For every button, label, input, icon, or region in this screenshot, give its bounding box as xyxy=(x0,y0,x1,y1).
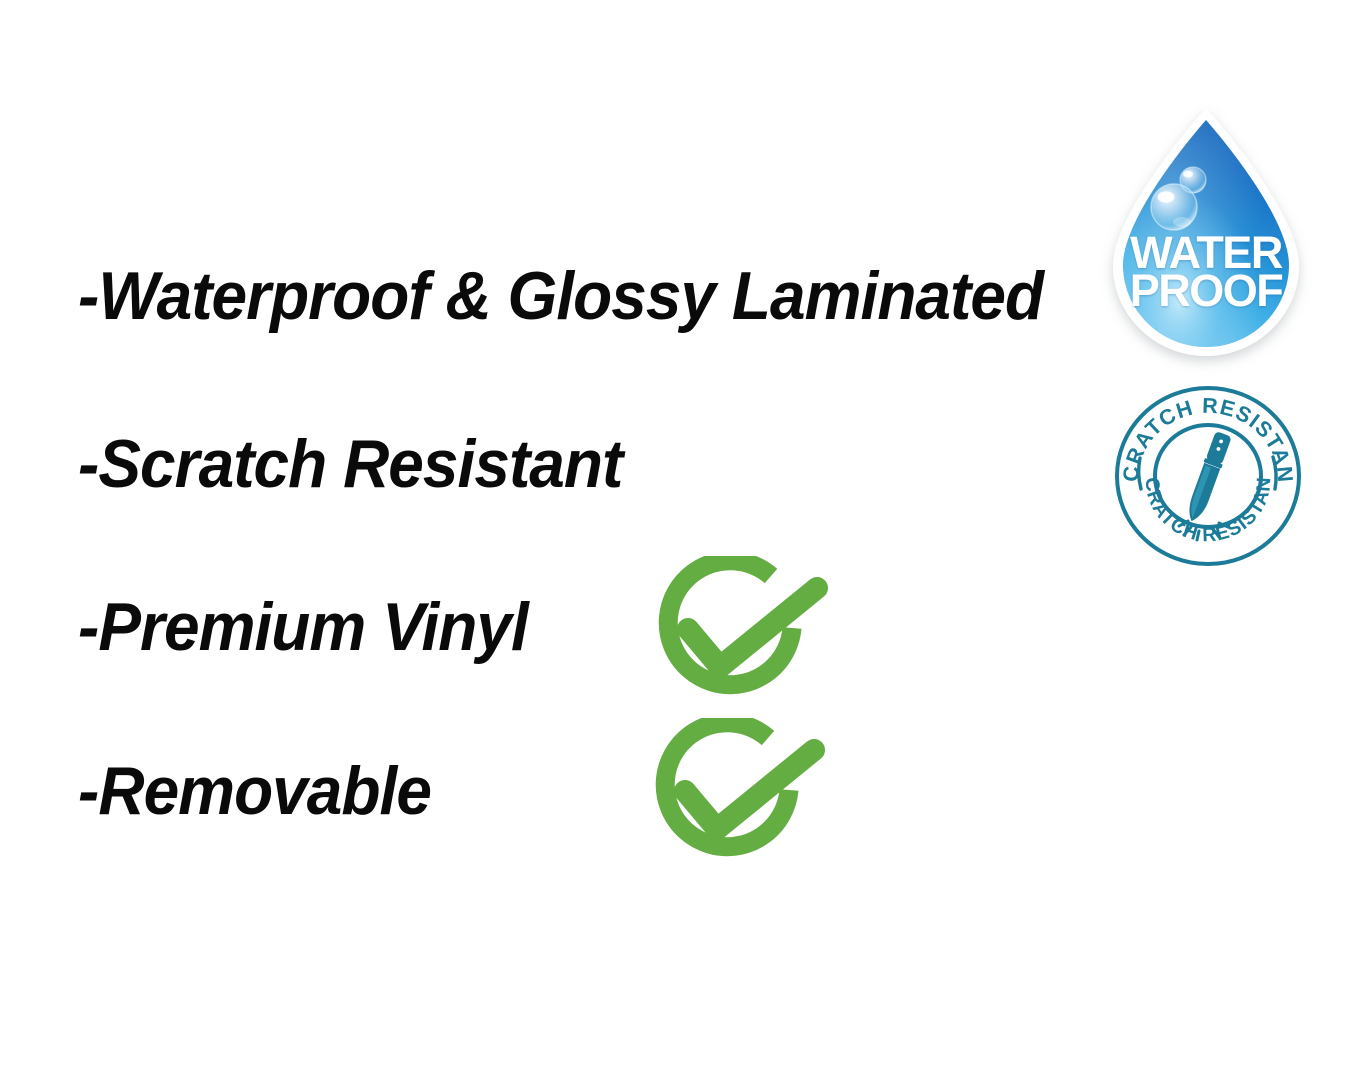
knife-icon xyxy=(1183,431,1233,525)
bubble-large-highlight xyxy=(1158,191,1175,202)
check-circle-icon xyxy=(638,718,834,878)
feature-item-scratch-resistant: -Scratch Resistant xyxy=(78,430,622,498)
bubble-small-highlight xyxy=(1183,171,1193,178)
feature-item-premium-vinyl: -Premium Vinyl xyxy=(78,593,528,661)
feature-item-removable: -Removable xyxy=(78,757,431,825)
knife-blade xyxy=(1184,463,1220,524)
bubble-large-underlight xyxy=(1173,217,1191,227)
waterproof-badge: WATER PROOF xyxy=(1106,106,1306,364)
droplet-sheen xyxy=(1123,120,1289,347)
check-tick xyxy=(685,750,814,829)
scratch-resistant-badge: SCRATCH RESISTANT SCRATCH RESISTANT xyxy=(1113,381,1303,567)
feature-item-waterproof-glossy-laminated: -Waterproof & Glossy Laminated xyxy=(78,262,1043,330)
check-circle-removable xyxy=(638,718,834,878)
knife-stamp-icon: SCRATCH RESISTANT SCRATCH RESISTANT xyxy=(1113,381,1303,567)
check-circle-premium-vinyl xyxy=(641,556,837,716)
feature-list-graphic: -Waterproof & Glossy Laminated -Scratch … xyxy=(0,0,1359,1080)
check-circle-icon xyxy=(641,556,837,716)
check-tick xyxy=(688,588,817,667)
water-drop-icon xyxy=(1106,106,1306,364)
